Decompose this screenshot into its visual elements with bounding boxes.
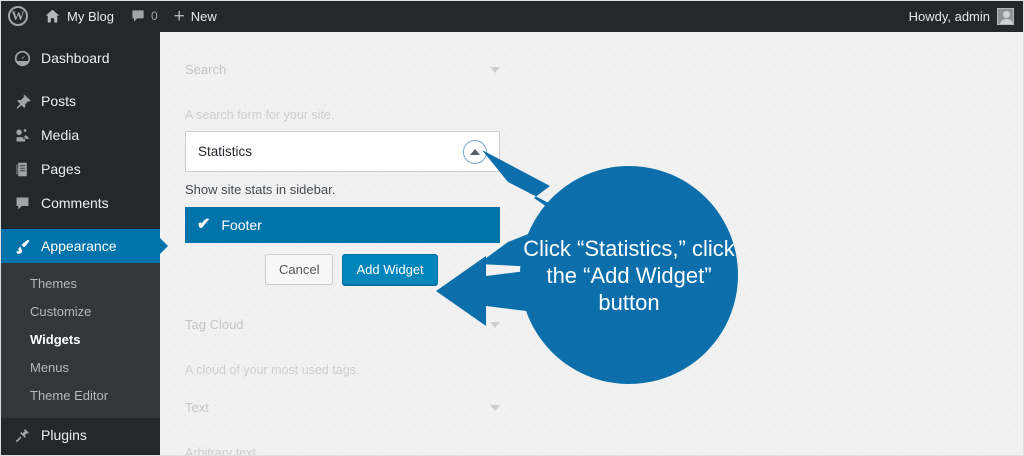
sidebar-item-label: Comments — [41, 196, 109, 210]
sidebar-item-label: Pages — [41, 162, 81, 176]
chevron-down-icon[interactable] — [490, 67, 500, 73]
sidebar-item-customize[interactable]: Customize — [0, 298, 160, 326]
sidebar-item-appearance[interactable]: Appearance — [0, 229, 160, 263]
menu-top-gap — [0, 32, 160, 41]
new-content-menu[interactable]: + New — [166, 0, 225, 32]
site-name-label: My Blog — [67, 9, 114, 24]
widget-item-text[interactable]: Text — [185, 401, 500, 414]
sidebar-item-label: Appearance — [41, 239, 117, 253]
sidebar-item-posts[interactable]: Posts — [0, 84, 160, 118]
media-icon — [12, 125, 32, 145]
sidebar-item-label: Media — [41, 128, 79, 142]
howdy-label: Howdy, admin — [909, 9, 990, 24]
widget-description-tag-cloud: A cloud of your most used tags. — [185, 361, 359, 379]
widget-item-search[interactable]: Search — [185, 63, 500, 76]
widget-title: Search — [185, 63, 226, 76]
chevron-up-icon[interactable] — [463, 140, 487, 164]
pin-icon — [12, 91, 32, 111]
comment-bubble-icon — [12, 193, 32, 213]
comment-count: 0 — [151, 9, 158, 23]
sidebar-item-comments[interactable]: Comments — [0, 186, 160, 220]
sidebar-item-menus[interactable]: Menus — [0, 354, 160, 382]
sidebar-item-label: Plugins — [41, 428, 87, 442]
menu-section-gap-1 — [0, 75, 160, 84]
widget-title: Statistics — [198, 144, 463, 159]
avatar-icon — [997, 8, 1014, 25]
triangle-up-glyph — [470, 149, 480, 155]
widget-description-text: Arbitrary text. — [185, 444, 259, 456]
widget-description-search: A search form for your site. — [185, 106, 334, 124]
cancel-button[interactable]: Cancel — [265, 254, 333, 285]
admin-sidebar-menu: Dashboard Posts Media — [0, 32, 160, 456]
plus-icon: + — [174, 7, 185, 26]
widget-title: Tag Cloud — [185, 318, 244, 331]
home-icon — [44, 8, 61, 25]
paintbrush-icon — [12, 236, 32, 256]
sidebar-item-label: Dashboard — [41, 51, 110, 65]
menu-section-gap-2 — [0, 220, 160, 229]
sidebar-item-themes[interactable]: Themes — [0, 270, 160, 298]
chevron-down-icon[interactable] — [490, 405, 500, 411]
appearance-submenu: Themes Customize Widgets Menus Theme Edi… — [0, 263, 160, 418]
sidebar-item-media[interactable]: Media — [0, 118, 160, 152]
comment-bubble-icon — [130, 8, 146, 24]
plug-icon — [12, 425, 32, 445]
my-account-menu[interactable]: Howdy, admin — [909, 8, 1024, 25]
widget-title: Text — [185, 401, 209, 414]
widget-item-tag-cloud[interactable]: Tag Cloud — [185, 318, 500, 331]
sidebar-item-pages[interactable]: Pages — [0, 152, 160, 186]
wp-logo-menu[interactable]: W — [0, 0, 36, 32]
wordpress-logo-icon: W — [8, 6, 28, 26]
checkmark-icon: ✔ — [197, 217, 210, 233]
pages-icon — [12, 159, 32, 179]
widget-description-statistics: Show site stats in sidebar. — [185, 182, 335, 197]
site-name-menu[interactable]: My Blog — [36, 0, 122, 32]
chevron-down-icon[interactable] — [490, 322, 500, 328]
sidebar-item-plugins[interactable]: Plugins — [0, 418, 160, 452]
wordpress-widgets-screen: W My Blog 0 + New Howdy, admin — [0, 0, 1024, 456]
admin-bar: W My Blog 0 + New Howdy, admin — [0, 0, 1024, 32]
add-widget-button[interactable]: Add Widget — [342, 254, 437, 285]
new-label: New — [191, 9, 217, 24]
widgets-available-panel: Search A search form for your site. Stat… — [160, 32, 1024, 456]
sidebar-item-label: Posts — [41, 94, 76, 108]
sidebar-item-dashboard[interactable]: Dashboard — [0, 41, 160, 75]
sidebar-target-label: Footer — [221, 217, 261, 233]
sidebar-target-option-footer[interactable]: ✔ Footer — [185, 207, 500, 243]
comments-menu[interactable]: 0 — [122, 0, 166, 32]
sidebar-item-widgets[interactable]: Widgets — [0, 326, 160, 354]
sidebar-item-theme-editor[interactable]: Theme Editor — [0, 382, 160, 410]
widget-action-buttons: Cancel Add Widget — [265, 254, 438, 285]
dashboard-icon — [12, 48, 32, 68]
widget-item-statistics[interactable]: Statistics — [185, 131, 500, 172]
